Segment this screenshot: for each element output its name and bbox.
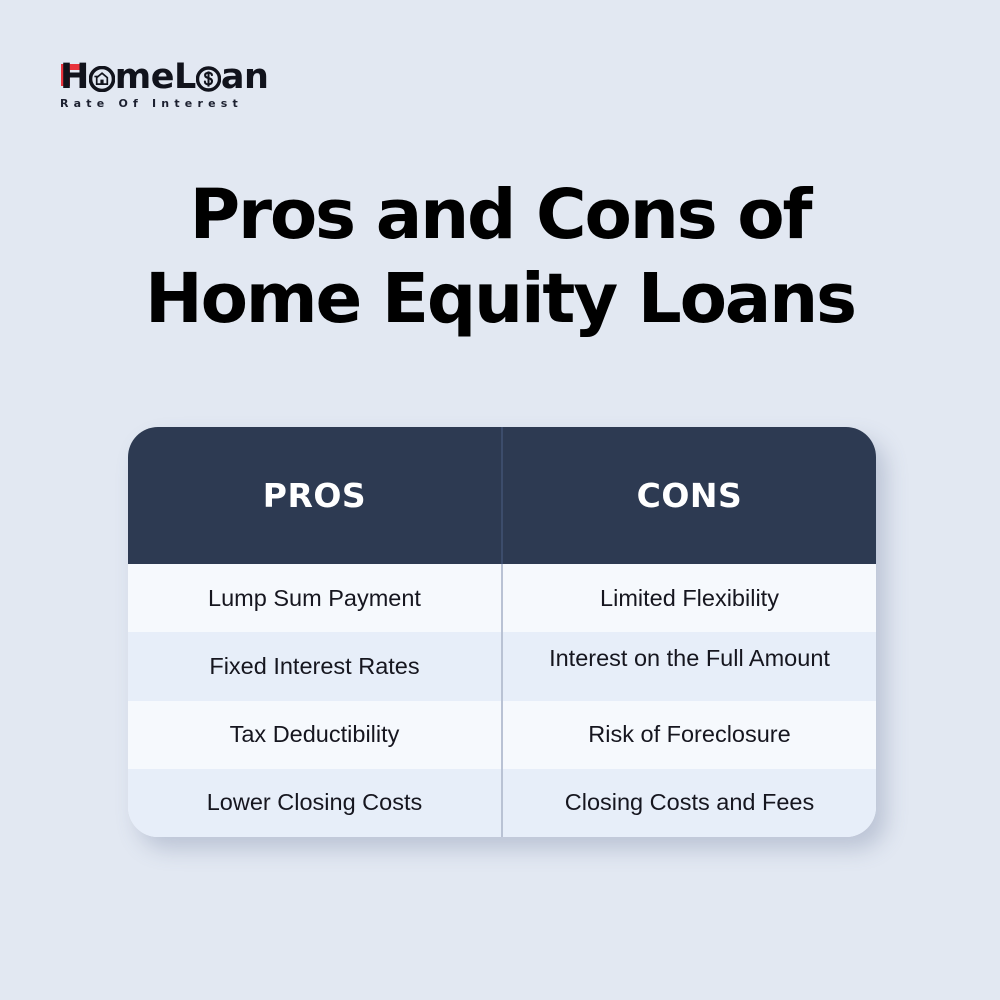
table-header-pros: PROS [128,427,501,564]
brand-logo[interactable]: HmeLan Rate Of Interest [60,58,320,120]
list-item: Fixed Interest Rates [128,632,501,700]
table-body: Lump Sum Payment Fixed Interest Rates Ta… [128,564,876,837]
brand-wordmark: HmeLan [60,58,320,96]
brand-name-part4: an [221,57,269,97]
table-header-cons: CONS [501,427,876,564]
list-item: Risk of Foreclosure [503,701,876,769]
list-item: Interest on the Full Amount [503,632,876,700]
pros-column: Lump Sum Payment Fixed Interest Rates Ta… [128,564,501,837]
list-item: Closing Costs and Fees [503,769,876,837]
brand-name-part3: L [174,57,196,97]
table-header-row: PROS CONS [128,427,876,564]
list-item: Limited Flexibility [503,564,876,632]
page-title-line-2: Home Equity Loans [0,257,1000,341]
list-item: Tax Deductibility [128,701,501,769]
page-title-line-1: Pros and Cons of [0,173,1000,257]
brand-name-part1: H [60,57,89,97]
pros-cons-table: PROS CONS Lump Sum Payment Fixed Interes… [128,427,876,837]
brand-tagline: Rate Of Interest [60,97,320,110]
house-in-circle-icon [89,66,115,92]
list-item: Lower Closing Costs [128,769,501,837]
list-item: Lump Sum Payment [128,564,501,632]
dollar-sign-icon [196,62,221,88]
page-title: Pros and Cons of Home Equity Loans [0,173,1000,341]
brand-name-part2: me [115,57,174,97]
cons-column: Limited Flexibility Interest on the Full… [501,564,876,837]
